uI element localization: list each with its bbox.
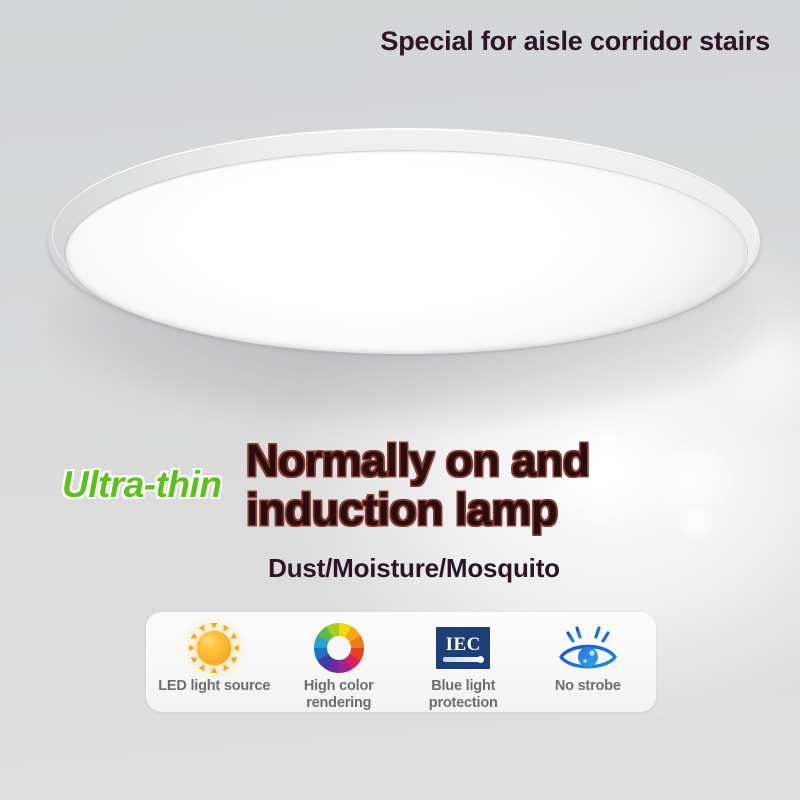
- feature-label-line-2: protection: [429, 695, 498, 711]
- headline-line-1: Normally on and: [246, 436, 590, 485]
- feature-blue-light-protection: IEC Blue light protection: [401, 620, 525, 712]
- iec-badge-icon: IEC: [436, 620, 490, 676]
- feature-label-line-1: Blue light: [431, 678, 495, 694]
- feature-label-high-color-rendering: High color rendering: [304, 678, 374, 712]
- iec-label: IEC: [446, 635, 481, 654]
- feature-label-blue-light-protection: Blue light protection: [429, 678, 498, 712]
- product-image-ceiling-lamp: [40, 126, 770, 386]
- eye-icon: [557, 620, 619, 676]
- feature-no-strobe: No strobe: [526, 620, 650, 695]
- product-poster: Special for aisle corridor stairs Ultra-…: [0, 0, 800, 800]
- feature-led-light-source: LED light source: [152, 620, 276, 695]
- subtitle: Dust/Moisture/Mosquito: [0, 553, 800, 584]
- headline-line-2: induction lamp: [246, 485, 590, 534]
- feature-high-color-rendering: High color rendering: [277, 620, 401, 712]
- color-wheel-icon: [314, 620, 364, 676]
- feature-label-line-1: High color: [304, 678, 374, 694]
- feature-label-no-strobe: No strobe: [555, 678, 621, 695]
- top-heading: Special for aisle corridor stairs: [0, 26, 770, 57]
- lamp-rim-highlight: [52, 128, 756, 342]
- slogan-block: Ultra-thin Normally on and induction lam…: [0, 440, 800, 536]
- feature-badges-card: LED light source High color rendering IE…: [146, 612, 656, 712]
- ultra-thin-badge: Ultra-thin: [62, 464, 221, 506]
- feature-label-line-2: rendering: [306, 695, 371, 711]
- iec-bar: [443, 657, 483, 662]
- sun-icon: [187, 620, 241, 676]
- main-headline: Normally on and induction lamp: [246, 436, 590, 534]
